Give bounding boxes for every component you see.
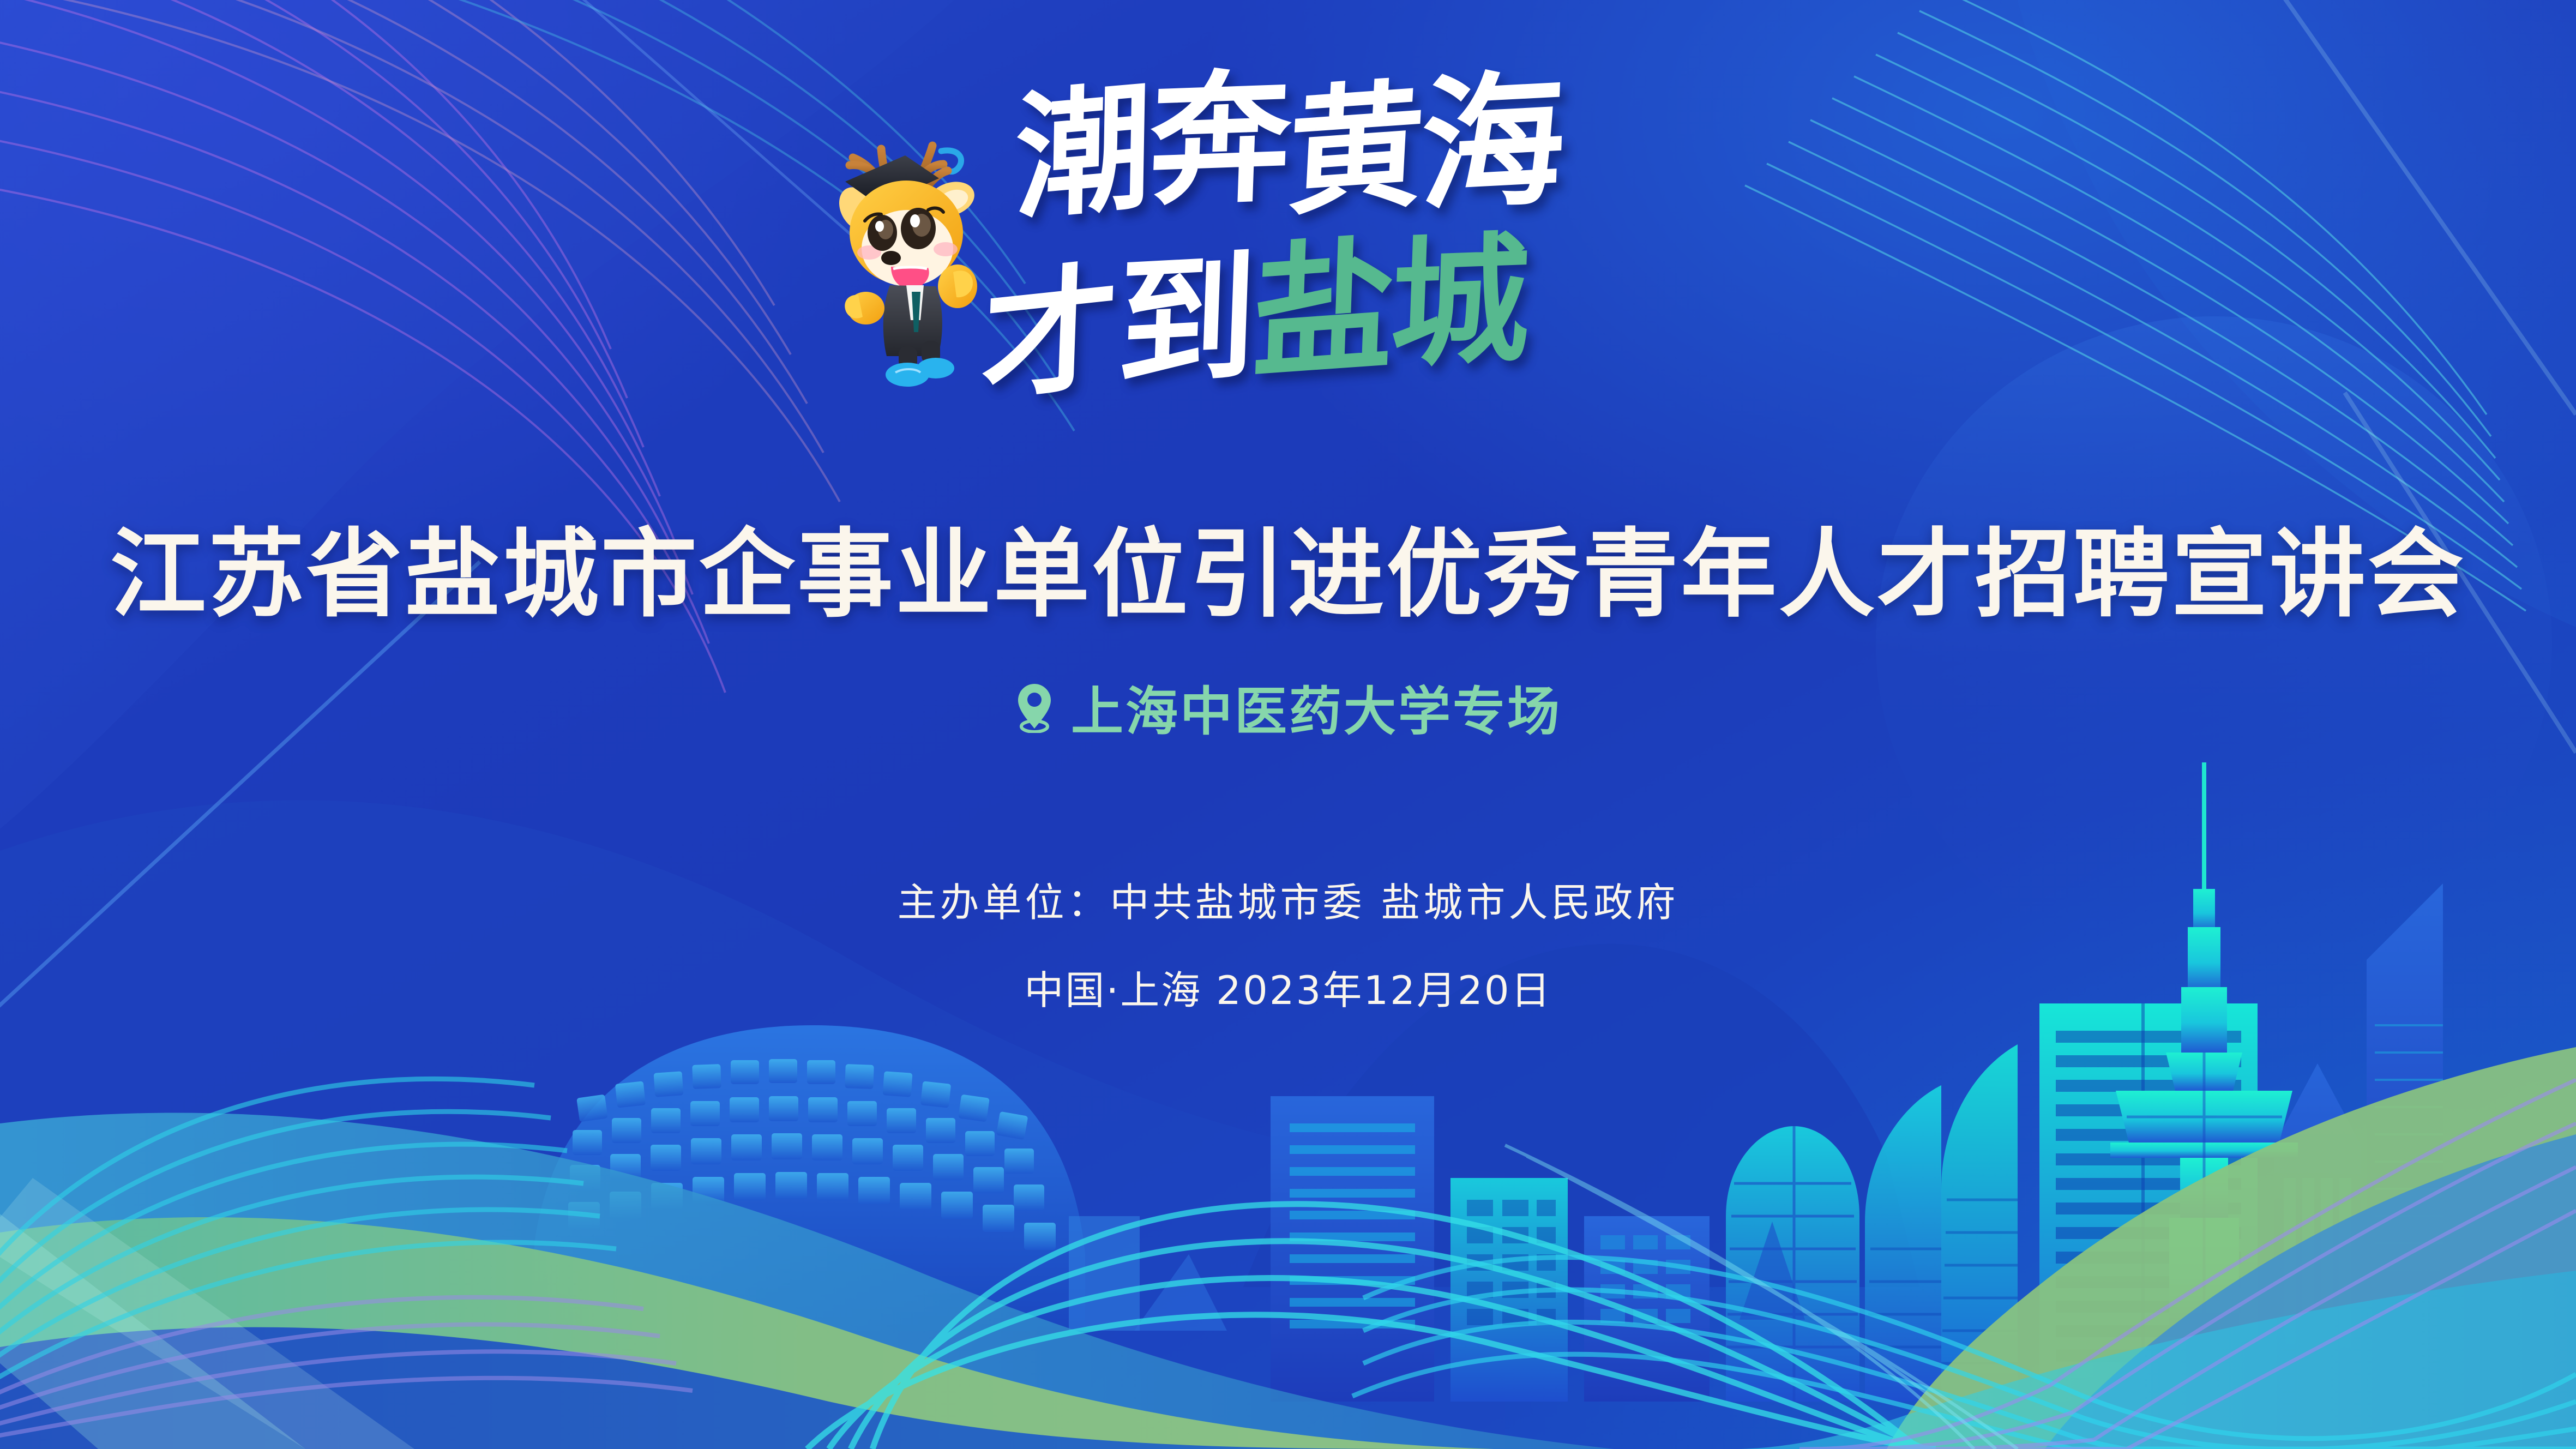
organizer-block: 主办单位：中共盐城市委 盐城市人民政府 中国·上海 2023年12月20日 — [898, 870, 1679, 1015]
calligraphy-char: 奔 — [1147, 65, 1293, 213]
location-pin-icon — [1014, 682, 1055, 733]
calligraphy-char: 才 — [980, 257, 1120, 409]
calligraphy-char: 到 — [1115, 246, 1259, 393]
calligraphy-char: 潮 — [1014, 77, 1152, 226]
location-date-line: 中国·上海 2023年12月20日 — [1024, 958, 1551, 1015]
calligraphy-char: 城 — [1388, 230, 1532, 374]
calligraphy-line-2: 才到盐城 — [983, 245, 1528, 382]
venue-subtitle-label: 上海中医药大学专场 — [1071, 669, 1562, 745]
organizer-line: 主办单位：中共盐城市委 盐城市人民政府 — [898, 870, 1679, 928]
calligraphy-char: 盐 — [1250, 232, 1398, 386]
venue-subtitle: 上海中医药大学专场 — [1014, 669, 1562, 745]
deer-mascot — [824, 112, 1004, 395]
event-logo: 潮奔黄海 才到盐城 — [819, 82, 1757, 474]
calligraphy-char: 海 — [1418, 66, 1567, 219]
calligraphy-char: 黄 — [1285, 76, 1428, 223]
poster-canvas: 潮奔黄海 才到盐城 江苏省盐城市企事业单位引进优秀青年人才招聘宣讲会 上海中医药… — [0, 0, 2576, 1449]
calligraphy-logo-text: 潮奔黄海 才到盐城 — [983, 82, 1757, 464]
page-title: 江苏省盐城市企事业单位引进优秀青年人才招聘宣讲会 — [110, 496, 2466, 635]
calligraphy-line-1: 潮奔黄海 — [1015, 79, 1561, 215]
